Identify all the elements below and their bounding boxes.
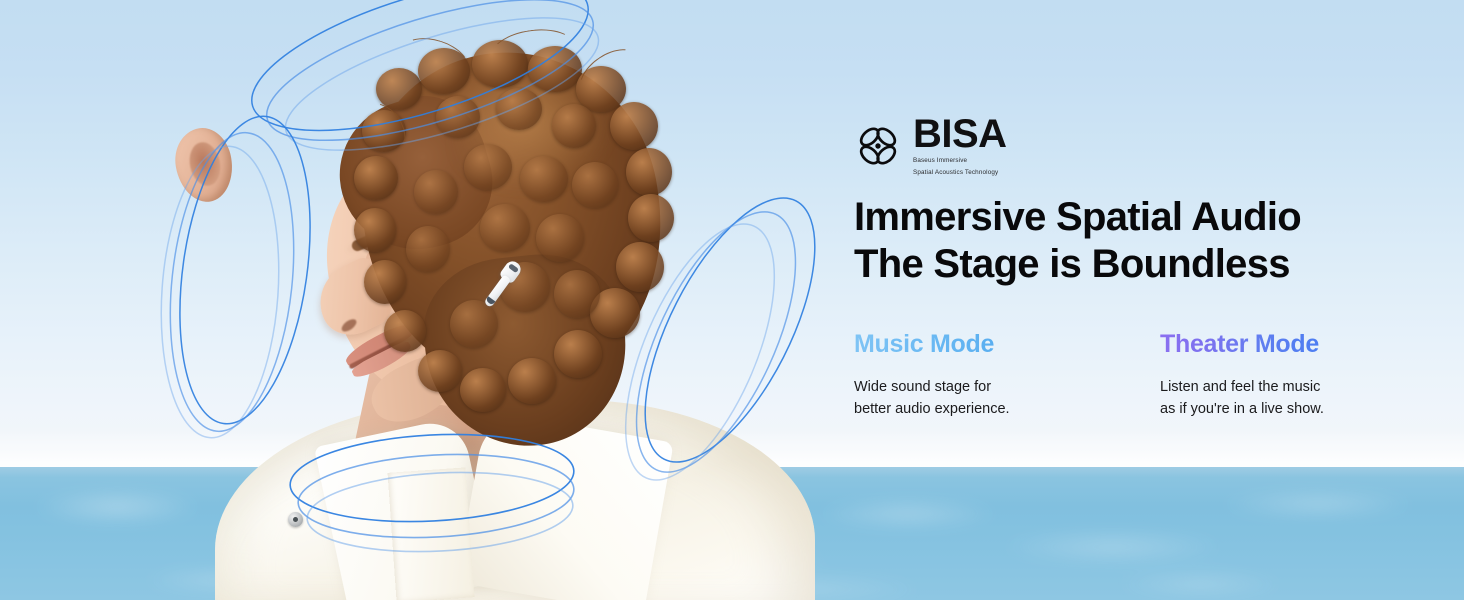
brand-tagline-line1: Baseus Immersive (913, 157, 1007, 166)
hair-curl (554, 330, 602, 378)
hair-curl (610, 102, 658, 150)
hair-curl (616, 242, 664, 292)
brand-tagline-line2: Spatial Acoustics Technology (913, 169, 1007, 178)
hair-curl (418, 350, 462, 392)
shirt-button (288, 512, 303, 527)
brand-wordmark: BISA (913, 114, 1007, 154)
hair-curl (406, 226, 450, 272)
mode-description: Wide sound stage for better audio experi… (854, 376, 1160, 420)
headline-line-1: Immersive Spatial Audio (854, 194, 1301, 241)
content-panel: BISA Baseus Immersive Spatial Acoustics … (854, 0, 1414, 600)
hair-curl (572, 162, 618, 208)
mode-description: Listen and feel the music as if you're i… (1160, 376, 1324, 420)
hair-curl (628, 194, 674, 242)
headline-line-2: The Stage is Boundless (854, 241, 1301, 288)
hair-curl (552, 104, 596, 148)
mode-title: Music Mode (854, 330, 1160, 359)
hair-curl (354, 208, 396, 252)
hair-curl (384, 310, 426, 352)
hair-curl (536, 214, 584, 262)
hair-curl (508, 358, 556, 404)
hair-curl (626, 148, 672, 196)
model-photo (0, 0, 880, 600)
brand-lockup: BISA Baseus Immersive Spatial Acoustics … (854, 114, 1007, 178)
hair-curl (464, 144, 512, 190)
hair-curl (354, 156, 398, 200)
hair-curl (364, 260, 406, 304)
shirt-placket (388, 467, 475, 600)
mode-title: Theater Mode (1160, 330, 1324, 359)
bisa-logo-icon (854, 122, 902, 170)
brand-text: BISA Baseus Immersive Spatial Acoustics … (913, 114, 1007, 178)
hair-curl (520, 156, 568, 202)
hair-curl (480, 204, 530, 252)
mode-item-theater: Theater Mode Listen and feel the music a… (1160, 330, 1324, 420)
hair-curl (414, 170, 458, 214)
mode-item-music: Music Mode Wide sound stage for better a… (854, 330, 1160, 420)
promo-banner: BISA Baseus Immersive Spatial Acoustics … (0, 0, 1464, 600)
page-title: Immersive Spatial Audio The Stage is Bou… (854, 194, 1301, 288)
hair-curl (460, 368, 506, 412)
curly-hair (340, 38, 680, 438)
hair-curl (436, 96, 480, 138)
mode-list: Music Mode Wide sound stage for better a… (854, 330, 1324, 420)
earbud-mesh (508, 263, 519, 273)
hair-curl (496, 88, 542, 130)
hair-curl (554, 270, 600, 318)
